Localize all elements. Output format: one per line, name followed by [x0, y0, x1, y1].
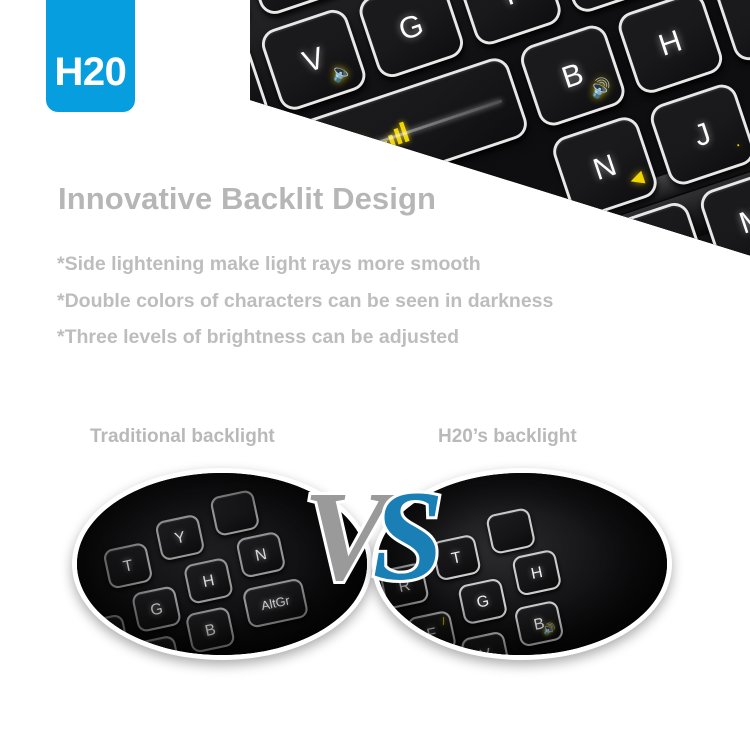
- key-alt-symbol: ·: [732, 135, 743, 153]
- key-label: J: [690, 118, 715, 152]
- key-label: AltGr: [608, 241, 664, 278]
- key-j: J ·: [647, 80, 750, 188]
- key-arrow-up: ▲: [679, 261, 750, 296]
- versus-graphic: VS: [303, 472, 438, 600]
- key-g: G: [355, 0, 467, 81]
- okey-altgr: AltGr: [242, 577, 310, 629]
- key-label: V: [299, 42, 328, 77]
- okey-h: H: [183, 557, 234, 605]
- okey-y: [485, 507, 536, 555]
- volume-down-icon: 🔈: [328, 60, 354, 83]
- key-altgr: AltGr: [561, 199, 711, 296]
- okey-f: F /: [406, 610, 457, 658]
- spacebar-line: [254, 99, 502, 185]
- feature-bullet: *Double colors of characters can be seen…: [57, 289, 553, 314]
- key-label: Y: [494, 0, 523, 12]
- versus-letter-v: V: [303, 465, 382, 607]
- okey-f: F: [79, 613, 130, 660]
- comparison-label-h20: H20’s backlight: [438, 426, 577, 448]
- okey-v: V: [131, 635, 182, 660]
- okey-b: B 🔊: [513, 600, 564, 648]
- page-title: Innovative Backlit Design: [58, 181, 436, 217]
- versus-letter-s: S: [372, 465, 437, 607]
- key-label: G: [395, 9, 428, 46]
- key-label: H: [655, 25, 686, 61]
- okey-n2: N: [235, 531, 286, 579]
- okey-b: B: [185, 606, 236, 654]
- product-feature-page: ´¨ C F / T 6 ^: [0, 0, 750, 750]
- okey-g: G: [457, 577, 508, 625]
- key-v: V 🔈: [258, 6, 370, 114]
- brightness-sun-icon: ☀: [344, 129, 376, 165]
- key-b: B 🔊: [517, 21, 629, 129]
- comparison-label-traditional: Traditional backlight: [90, 426, 275, 448]
- okey-g: G: [131, 585, 182, 633]
- h20-badge-label: H20: [55, 52, 127, 92]
- feature-bullet: *Side lightening make light rays more sm…: [57, 252, 553, 277]
- okey-u: [209, 489, 260, 537]
- okey-v: V 🔈: [460, 631, 511, 660]
- key-alt-symbol: /: [441, 616, 446, 628]
- key-label: B: [558, 58, 587, 93]
- key-n: N ◀: [549, 113, 661, 221]
- okey-d: D !: [372, 642, 408, 660]
- key-h: H: [614, 0, 726, 97]
- previous-track-icon: ◀: [628, 168, 646, 189]
- key-label: N: [589, 149, 620, 185]
- okey-h: H: [511, 549, 562, 597]
- volume-up-icon: 🔊: [587, 76, 613, 99]
- okey-t: T: [102, 542, 153, 590]
- feature-bullet: *Three levels of brightness can be adjus…: [57, 325, 553, 350]
- key-m: M ▶‖: [697, 166, 750, 274]
- key-alt-symbol: !: [392, 648, 397, 660]
- volume-down-icon: 🔈: [488, 653, 503, 660]
- feature-bullet-list: *Side lightening make light rays more sm…: [57, 252, 553, 362]
- okey-y: Y: [154, 514, 205, 562]
- key-label: M: [736, 202, 750, 239]
- h20-badge: H20: [46, 0, 135, 112]
- volume-up-icon: 🔊: [542, 623, 557, 637]
- okey-t: T: [431, 534, 482, 582]
